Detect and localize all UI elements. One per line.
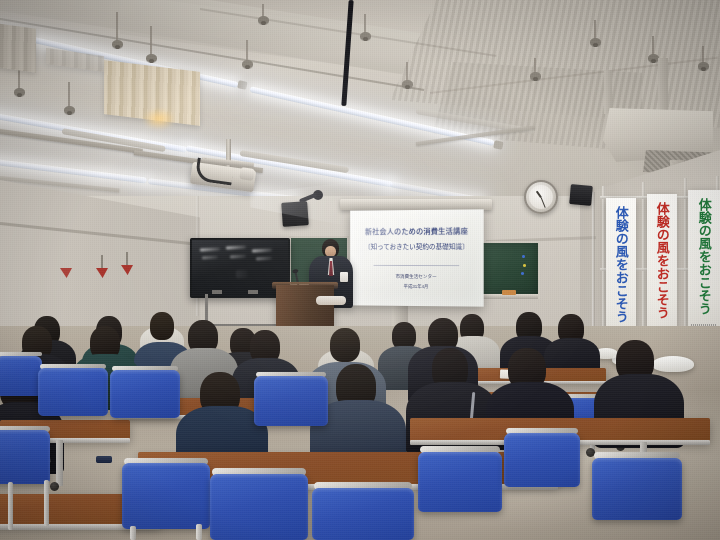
banner-text: 体験の風をおこそう xyxy=(655,202,669,319)
chair-back xyxy=(0,430,50,484)
chair-back xyxy=(504,433,580,487)
screen-reflection xyxy=(230,255,246,259)
clock-face xyxy=(529,185,553,209)
wall-speaker-icon xyxy=(281,201,309,227)
chair-back xyxy=(122,463,210,529)
slide-divider xyxy=(374,264,460,265)
sprinkler-head xyxy=(242,60,253,68)
sprinkler-head xyxy=(360,32,371,40)
chair-back xyxy=(312,488,414,540)
sprinkler-head xyxy=(112,40,123,48)
sprinkler-head xyxy=(258,16,269,24)
sprinkler-head xyxy=(14,88,25,96)
ceiling-hanger-rod xyxy=(246,40,248,62)
chair-back xyxy=(0,356,42,396)
curtain-light-glow xyxy=(142,108,176,130)
ceiling-hanger-rod xyxy=(594,20,596,40)
chair-back xyxy=(418,452,502,512)
light-end-cap xyxy=(493,140,504,150)
flat-panel-display xyxy=(190,238,290,298)
chair-back xyxy=(110,370,180,418)
magnet xyxy=(523,264,526,267)
presenter-hands xyxy=(316,296,346,305)
screen-reflection xyxy=(202,256,218,260)
sprinkler-head xyxy=(590,38,601,46)
sprinkler-head xyxy=(698,62,709,70)
chair-leg xyxy=(196,524,202,540)
slide-date: 平成31年4月 xyxy=(404,283,429,289)
projector-lens xyxy=(239,167,255,181)
chair-back xyxy=(254,376,328,426)
ceiling-hanger-rod xyxy=(116,12,118,42)
screen-reflection xyxy=(226,245,246,249)
wall-corner xyxy=(592,192,595,340)
magnet xyxy=(521,272,524,275)
ceiling-hanger-rod xyxy=(68,82,70,108)
alarm-mount-rod xyxy=(101,255,103,269)
sprinkler-head xyxy=(64,106,75,114)
display-stand xyxy=(205,294,279,327)
slide-title: 新社会人のための消費生活講座 xyxy=(365,226,468,237)
sprinkler-head xyxy=(146,54,157,62)
chair-leg xyxy=(130,526,136,540)
table-caster xyxy=(50,482,59,491)
alarm-mount-rod xyxy=(126,252,128,266)
presentation-slide: 新社会人のための消費生活講座 〔知っておきたい契約の基礎知識〕 市消費生活センタ… xyxy=(350,209,484,306)
screen-reflection xyxy=(236,270,248,279)
chalk-box xyxy=(502,290,516,295)
ceiling-hanger-rod xyxy=(150,26,152,56)
screen-reflection xyxy=(252,248,272,252)
banner-green: 体験の風をおこそう xyxy=(688,190,720,342)
slide-subtitle: 〔知っておきたい契約の基礎知識〕 xyxy=(364,240,469,250)
chair-back xyxy=(210,474,308,540)
hvac-duct xyxy=(658,58,668,114)
wall-speaker-icon xyxy=(569,184,593,206)
audience-head xyxy=(150,312,174,340)
smartphone xyxy=(96,456,112,463)
light-end-cap xyxy=(237,80,248,90)
table-leg xyxy=(56,440,63,486)
clock-hand-minute xyxy=(540,197,545,208)
chair-back xyxy=(592,458,682,520)
sprinkler-head xyxy=(530,72,541,80)
banner-text: 体験の風をおこそう xyxy=(697,198,711,315)
hvac-duct xyxy=(604,70,612,114)
hanging-curtain xyxy=(0,23,36,73)
chair-leg xyxy=(44,480,49,526)
screen-reflection xyxy=(256,257,272,261)
presenter-name-badge xyxy=(340,272,348,282)
banner-text: 体験の風をおこそう xyxy=(614,206,628,323)
screen-reflection xyxy=(200,247,220,251)
ceiling-hanger-rod xyxy=(652,36,654,56)
chair-leg xyxy=(8,482,13,530)
banner-red: 体験の風をおこそう xyxy=(647,194,677,346)
banner-weight-base xyxy=(652,356,694,372)
sprinkler-head xyxy=(402,80,413,88)
classroom-photo: 新社会人のための消費生活講座 〔知っておきたい契約の基礎知識〕 市消費生活センタ… xyxy=(0,0,720,540)
slide-organization: 市消費生活センター xyxy=(395,273,436,279)
chair-back xyxy=(38,368,108,416)
wall-clock-icon xyxy=(524,180,558,214)
podium xyxy=(276,285,334,327)
projection-screen: 新社会人のための消費生活講座 〔知っておきたい契約の基礎知識〕 市消費生活センタ… xyxy=(350,209,484,306)
magnet xyxy=(522,255,525,258)
ceiling-hanger-rod xyxy=(406,62,408,82)
audience-head xyxy=(330,328,360,362)
projection-screen-case xyxy=(340,199,492,210)
